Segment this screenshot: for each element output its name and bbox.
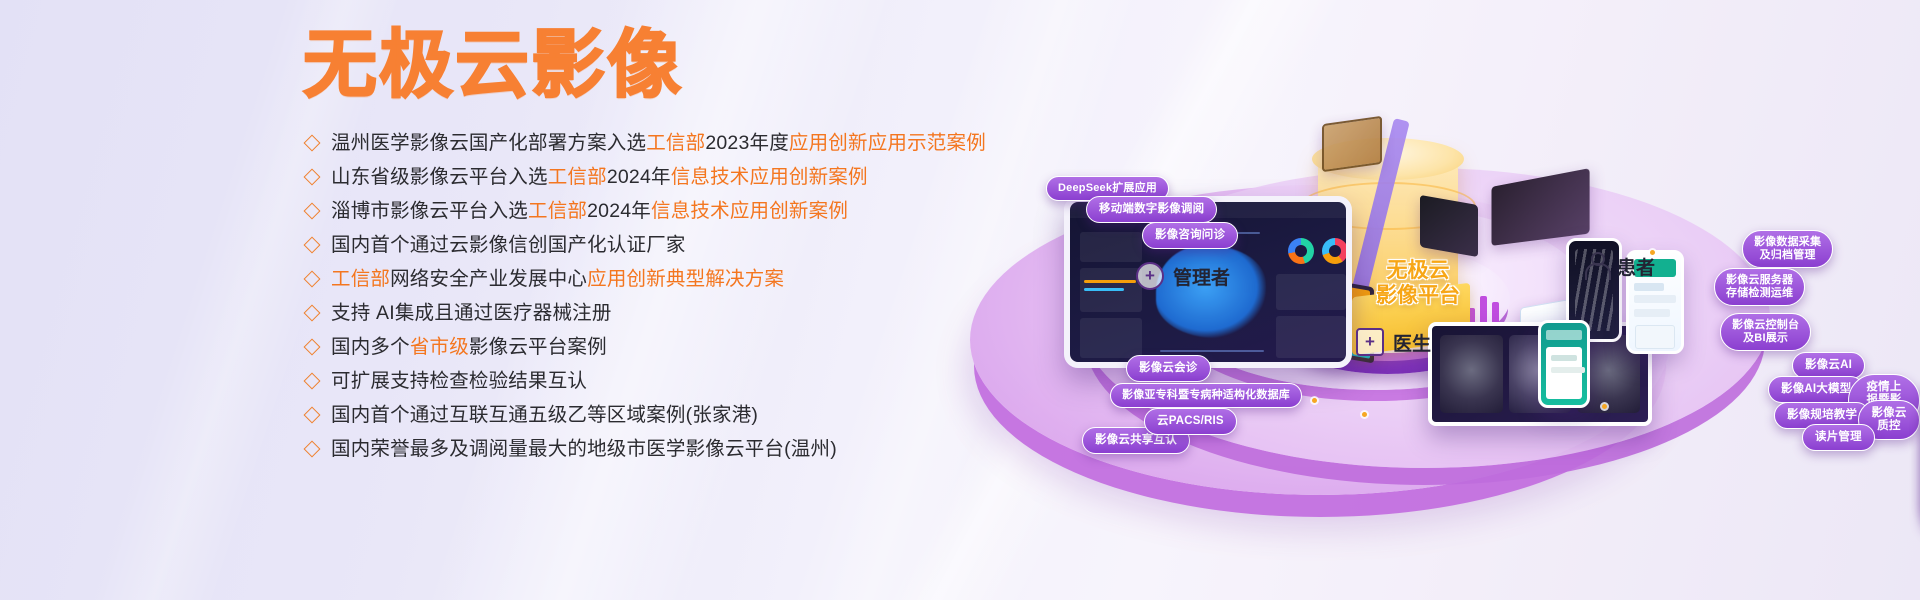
feature-list-item-text: 可扩展支持检查检验结果互认 xyxy=(331,366,587,396)
highlighted-text: 工信部 xyxy=(528,200,587,222)
highlighted-text: 省市级 xyxy=(410,336,469,358)
plus-circle-icon: + xyxy=(1136,262,1164,290)
capability-tag-server-ops[interactable]: 影像云服务器 存储检测运维 xyxy=(1714,268,1805,306)
feature-list-item: 国内首个通过互联互通五级乙等区域案例(张家港) xyxy=(306,400,1006,434)
feature-list-item: 国内多个省市级影像云平台案例 xyxy=(306,332,1006,366)
role-admin-label: 管理者 xyxy=(1173,263,1230,290)
capability-tag-consult[interactable]: 影像咨询问诊 xyxy=(1142,222,1238,249)
plain-text: 温州医学影像云国产化部署方案入选 xyxy=(331,132,646,154)
map-visualization xyxy=(1156,246,1266,338)
role-patient-label: 患者 xyxy=(1617,253,1655,280)
feature-list-item-text: 国内首个通过互联互通五级乙等区域案例(张家港) xyxy=(331,400,758,430)
plain-text: 网络安全产业发展中心 xyxy=(390,268,587,290)
highlighted-text: 工信部 xyxy=(548,166,607,188)
plain-text: 国内荣誉最多及调阅量最大的地级市医学影像云平台(温州) xyxy=(331,438,837,460)
plain-text: 2023年度 xyxy=(705,132,789,154)
highlighted-text: 工信部 xyxy=(331,268,390,290)
platform-illustration: + 管理者 患者 + 医生 无极云 影像平台 DeepSeek扩展应用移动端数字… xyxy=(960,0,1920,600)
center-label-line1: 无极云 xyxy=(1358,258,1478,283)
connector-dot xyxy=(1362,412,1367,417)
plain-text: 国内首个通过互联互通五级乙等区域案例(张家港) xyxy=(331,404,758,426)
role-doctor: + 医生 xyxy=(1356,328,1431,356)
capability-tag-mobile-imaging[interactable]: 移动端数字影像调阅 xyxy=(1086,196,1217,223)
feature-list-item: 可扩展支持检查检验结果互认 xyxy=(306,366,1006,400)
feature-list-item: 支持 AI集成且通过医疗器械注册 xyxy=(306,298,1006,332)
plain-text: 国内首个通过云影像信创国产化认证厂家 xyxy=(331,234,686,256)
capability-tag-console-bi[interactable]: 影像云控制台 及BI展示 xyxy=(1720,313,1811,351)
highlighted-text: 信息技术应用创新案例 xyxy=(671,166,868,188)
feature-list-item: 淄博市影像云平台入选工信部2024年信息技术应用创新案例 xyxy=(306,196,1006,230)
plain-text: 2024年 xyxy=(607,166,671,188)
scan-image xyxy=(1440,335,1503,413)
highlighted-text: 应用创新应用示范案例 xyxy=(789,132,986,154)
banner-root: 无极云影像 温州医学影像云国产化部署方案入选工信部2023年度应用创新应用示范案… xyxy=(0,0,1920,600)
capability-tag-film-mgmt[interactable]: 读片管理 xyxy=(1802,424,1875,451)
left-content: 无极云影像 温州医学影像云国产化部署方案入选工信部2023年度应用创新应用示范案… xyxy=(0,0,1010,600)
plain-text: 山东省级影像云平台入选 xyxy=(331,166,548,188)
diamond-bullet-icon xyxy=(304,271,321,288)
feature-list-item-text: 国内首个通过云影像信创国产化认证厂家 xyxy=(331,230,686,260)
plain-text: 2024年 xyxy=(587,200,651,222)
connector-dot xyxy=(1602,404,1607,409)
feature-list-item-text: 温州医学影像云国产化部署方案入选工信部2023年度应用创新应用示范案例 xyxy=(331,128,986,158)
diamond-bullet-icon xyxy=(304,305,321,322)
medical-record-icon: + xyxy=(1356,328,1384,356)
capability-tag-consultation[interactable]: 影像云会诊 xyxy=(1126,355,1211,382)
diamond-bullet-icon xyxy=(304,237,321,254)
ultrasound-tile xyxy=(1420,195,1478,257)
feature-list-item: 国内首个通过云影像信创国产化认证厂家 xyxy=(306,230,1006,264)
donut-chart xyxy=(1288,238,1314,264)
highlighted-text: 信息技术应用创新案例 xyxy=(651,200,848,222)
plain-text: 支持 AI集成且通过医疗器械注册 xyxy=(331,302,612,324)
page-title: 无极云影像 xyxy=(303,28,683,102)
connector-dot xyxy=(1312,398,1317,403)
capability-tag-data-collect[interactable]: 影像数据采集 及归档管理 xyxy=(1742,230,1833,268)
feature-list-item-text: 工信部网络安全产业发展中心应用创新典型解决方案 xyxy=(331,264,784,294)
center-label-line2: 影像平台 xyxy=(1358,283,1478,308)
capability-tag-cloud-ai[interactable]: 影像云AI xyxy=(1792,352,1865,379)
feature-list: 温州医学影像云国产化部署方案入选工信部2023年度应用创新应用示范案例山东省级影… xyxy=(306,128,1006,468)
feature-list-item: 山东省级影像云平台入选工信部2024年信息技术应用创新案例 xyxy=(306,162,1006,196)
feature-list-item: 工信部网络安全产业发展中心应用创新典型解决方案 xyxy=(306,264,1006,298)
feature-list-item-text: 淄博市影像云平台入选工信部2024年信息技术应用创新案例 xyxy=(331,196,848,226)
plain-text: 影像云平台案例 xyxy=(469,336,607,358)
feature-list-item: 国内荣誉最多及调阅量最大的地级市医学影像云平台(温州) xyxy=(306,434,1006,468)
mobile-doctor-view xyxy=(1538,320,1590,408)
highlighted-text: 工信部 xyxy=(646,132,705,154)
feature-list-item-text: 支持 AI集成且通过医疗器械注册 xyxy=(331,298,612,328)
plain-text: 淄博市影像云平台入选 xyxy=(331,200,528,222)
feature-list-item-text: 山东省级影像云平台入选工信部2024年信息技术应用创新案例 xyxy=(331,162,868,192)
plain-text: 国内多个 xyxy=(331,336,410,358)
feature-list-item-text: 国内多个省市级影像云平台案例 xyxy=(331,332,607,362)
plain-text: 可扩展支持检查检验结果互认 xyxy=(331,370,587,392)
capability-tag-pacs-ris[interactable]: 云PACS/RIS xyxy=(1144,408,1237,435)
diamond-bullet-icon xyxy=(304,203,321,220)
platform-center-label: 无极云 影像平台 xyxy=(1358,258,1478,308)
diamond-bullet-icon xyxy=(304,373,321,390)
diamond-bullet-icon xyxy=(304,135,321,152)
xray-film-tile xyxy=(1322,116,1382,172)
diamond-bullet-icon xyxy=(304,441,321,458)
role-patient: 患者 xyxy=(1584,252,1655,280)
diamond-bullet-icon xyxy=(304,169,321,186)
role-doctor-label: 医生 xyxy=(1393,329,1431,356)
donut-chart xyxy=(1322,238,1348,264)
diamond-bullet-icon xyxy=(304,339,321,356)
role-admin: + 管理者 xyxy=(1136,262,1230,290)
feature-list-item: 温州医学影像云国产化部署方案入选工信部2023年度应用创新应用示范案例 xyxy=(306,128,1006,162)
highlighted-text: 应用创新典型解决方案 xyxy=(587,268,784,290)
person-icon xyxy=(1584,252,1608,280)
diamond-bullet-icon xyxy=(304,407,321,424)
capability-tag-rare-disease[interactable]: 影像亚专科暨专病种适构化数据库 xyxy=(1110,383,1302,408)
feature-list-item-text: 国内荣誉最多及调阅量最大的地级市医学影像云平台(温州) xyxy=(331,434,837,464)
